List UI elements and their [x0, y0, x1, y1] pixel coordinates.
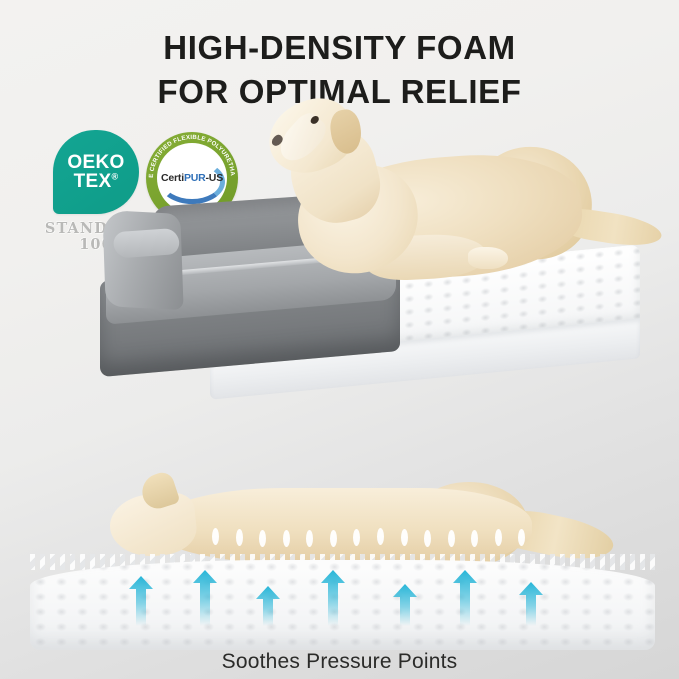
pressure-arrow-icon [255, 586, 281, 626]
spine-pressure-dot [424, 530, 431, 547]
spine-pressure-dot [401, 529, 408, 546]
pressure-arrow-icon [320, 570, 346, 626]
spine-pressure-dot [283, 530, 290, 547]
pressure-arrow-icon [128, 576, 154, 626]
spine-pressure-dot [518, 529, 525, 546]
spine-pressure-dot [306, 530, 313, 547]
headline-line-1: HIGH-DENSITY FOAM [163, 29, 515, 66]
spine-pressure-dots [208, 528, 538, 546]
spine-pressure-dot [353, 529, 360, 546]
spine-pressure-dot [330, 530, 337, 547]
spine-pressure-dot [495, 529, 502, 546]
dog-body [152, 488, 532, 564]
bed-side-bolster-highlight [112, 228, 181, 259]
pressure-arrow-icon [392, 584, 418, 626]
infographic-page: HIGH-DENSITY FOAM FOR OPTIMAL RELIEF OEK… [0, 0, 679, 679]
spine-pressure-dot [236, 529, 243, 546]
hardness-scale: Too Soft 1 Lack Of Support Moderate Hard… [0, 378, 679, 470]
dog-paw [468, 247, 508, 269]
pressure-arrows [0, 568, 679, 648]
product-image [100, 95, 660, 385]
pressure-points-scene: Soothes Pressure Points [0, 468, 679, 679]
spine-pressure-dot [471, 530, 478, 547]
spine-pressure-dot [212, 528, 219, 545]
pressure-arrow-icon [518, 582, 544, 626]
spine-pressure-dot [377, 528, 384, 545]
bed-side-bolster [102, 210, 183, 310]
spine-pressure-dot [259, 530, 266, 547]
bottom-caption: Soothes Pressure Points [0, 650, 679, 674]
pressure-arrow-icon [192, 570, 218, 626]
dog-on-bed [240, 95, 660, 325]
spine-pressure-dot [448, 530, 455, 547]
pressure-arrow-icon [452, 570, 478, 626]
